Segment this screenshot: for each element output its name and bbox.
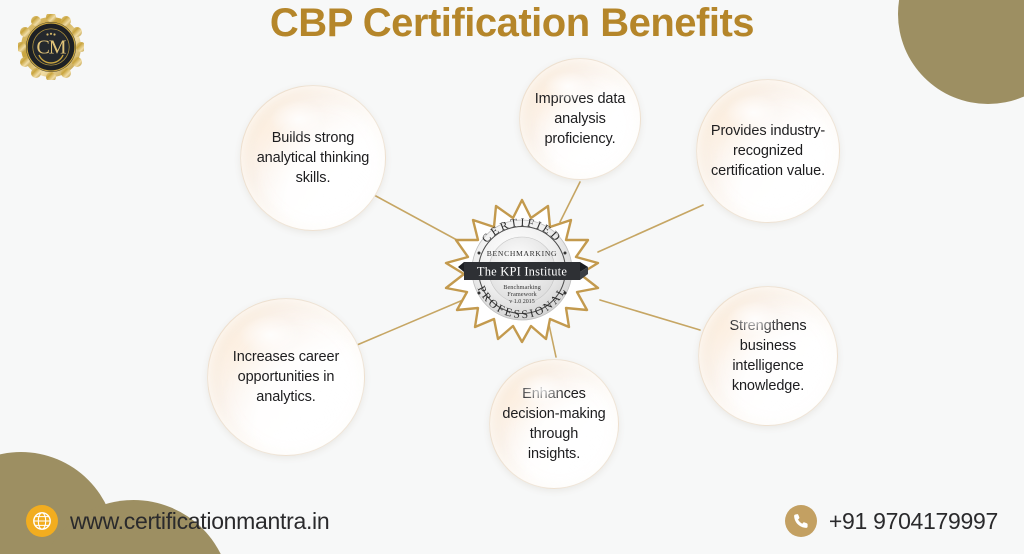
website-url-text: www.certificationmantra.in <box>70 508 329 535</box>
benefit-text: Increases career opportunities in analyt… <box>208 347 364 407</box>
brand-logo-icon: CM <box>18 14 84 80</box>
benefit-text: Strengthens business intelligence knowle… <box>699 316 837 396</box>
benefit-text: Improves data analysis proficiency. <box>520 89 640 149</box>
seal-framework-line1: Benchmarking <box>503 284 541 291</box>
connector-line-3 <box>598 205 703 252</box>
benefit-text: Provides industry-recognized certificati… <box>697 121 839 181</box>
seal-framework-line2: Framework <box>507 291 537 298</box>
phone-icon <box>785 505 817 537</box>
benefit-bubble-analytical-thinking[interactable]: Builds strong analytical thinking skills… <box>240 85 386 231</box>
benefit-text: Builds strong analytical thinking skills… <box>241 128 385 188</box>
footer-bar: www.certificationmantra.in +91 970417999… <box>0 492 1024 554</box>
benefit-bubble-data-analysis[interactable]: Improves data analysis proficiency. <box>519 58 641 180</box>
globe-icon <box>26 505 58 537</box>
kpi-institute-seal: CERTIFIED PROFESSIONAL BENCHMARKING The … <box>432 196 612 344</box>
infographic-canvas: CM CBP Certification Benefits <box>0 0 1024 554</box>
phone-number-text: +91 9704179997 <box>829 508 998 535</box>
footer-website[interactable]: www.certificationmantra.in <box>26 505 329 537</box>
seal-category: BENCHMARKING <box>487 249 557 258</box>
benefit-bubble-decision-making[interactable]: Enhances decision-making through insight… <box>489 359 619 489</box>
seal-institute-name: The KPI Institute <box>477 265 567 279</box>
page-title: CBP Certification Benefits <box>0 1 1024 46</box>
benefit-bubble-industry-recognition[interactable]: Provides industry-recognized certificati… <box>696 79 840 223</box>
connector-line-4 <box>600 300 700 330</box>
benefit-text: Enhances decision-making through insight… <box>490 384 618 464</box>
benefit-bubble-business-intelligence[interactable]: Strengthens business intelligence knowle… <box>698 286 838 426</box>
benefit-bubble-career-opportunities[interactable]: Increases career opportunities in analyt… <box>207 298 365 456</box>
seal-framework-line3: v 1.0 2015 <box>509 299 535 305</box>
footer-phone[interactable]: +91 9704179997 <box>785 505 998 537</box>
